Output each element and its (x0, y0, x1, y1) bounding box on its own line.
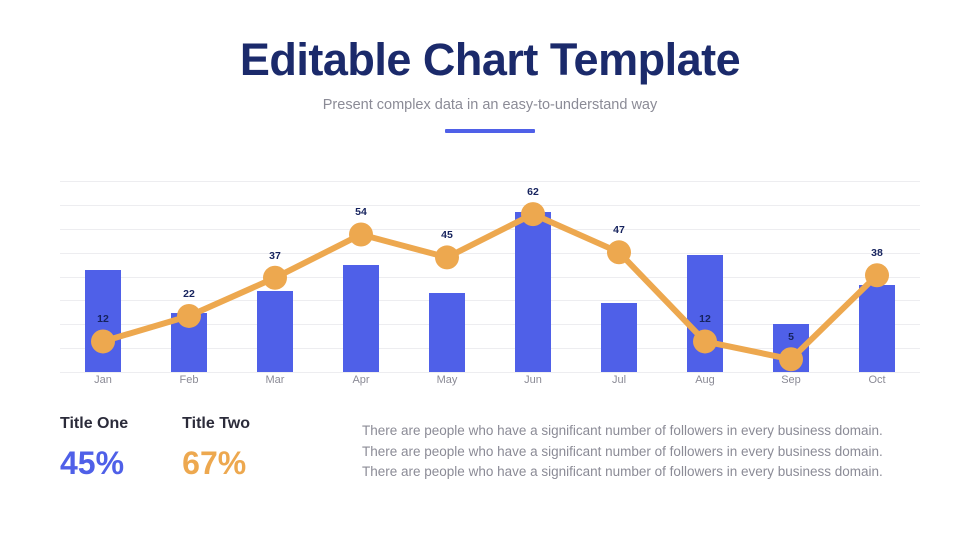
x-axis-tick-label: Feb (146, 374, 232, 386)
data-label: 38 (871, 247, 883, 259)
stat-title: Title Two (182, 415, 250, 433)
description-paragraph: There are people who have a significant … (362, 421, 910, 483)
chart-line-labels-layer: 1222375445624712538 (60, 181, 920, 372)
data-label: 22 (183, 288, 195, 300)
data-label: 37 (269, 250, 281, 262)
data-label: 54 (355, 206, 367, 218)
x-axis-tick-label: Apr (318, 374, 404, 386)
x-axis-tick-label: Aug (662, 374, 748, 386)
stat-value: 67% (182, 447, 250, 479)
data-label: 45 (441, 229, 453, 241)
data-label: 12 (97, 313, 109, 325)
accent-divider (445, 129, 535, 133)
header: Editable Chart Template Present complex … (0, 0, 980, 133)
stat-block: Title One45% (60, 415, 128, 479)
stat-title: Title One (60, 415, 128, 433)
data-label: 5 (788, 331, 794, 343)
chart-x-axis: JanFebMarAprMayJunJulAugSepOct (60, 374, 920, 392)
x-axis-tick-label: May (404, 374, 490, 386)
gridline (60, 372, 920, 373)
stat-value: 45% (60, 447, 128, 479)
data-label: 62 (527, 186, 539, 198)
chart-plot-area: 1222375445624712538 (60, 181, 920, 372)
stat-block: Title Two67% (182, 415, 250, 479)
data-label: 12 (699, 313, 711, 325)
footer: Title One45%Title Two67% There are peopl… (0, 415, 980, 525)
x-axis-tick-label: Sep (748, 374, 834, 386)
x-axis-tick-label: Jul (576, 374, 662, 386)
x-axis-tick-label: Jun (490, 374, 576, 386)
page-title: Editable Chart Template (0, 36, 980, 83)
stat-group: Title One45%Title Two67% (60, 415, 250, 479)
page-subtitle: Present complex data in an easy-to-under… (0, 97, 980, 113)
data-label: 47 (613, 224, 625, 236)
x-axis-tick-label: Jan (60, 374, 146, 386)
x-axis-tick-label: Mar (232, 374, 318, 386)
x-axis-tick-label: Oct (834, 374, 920, 386)
